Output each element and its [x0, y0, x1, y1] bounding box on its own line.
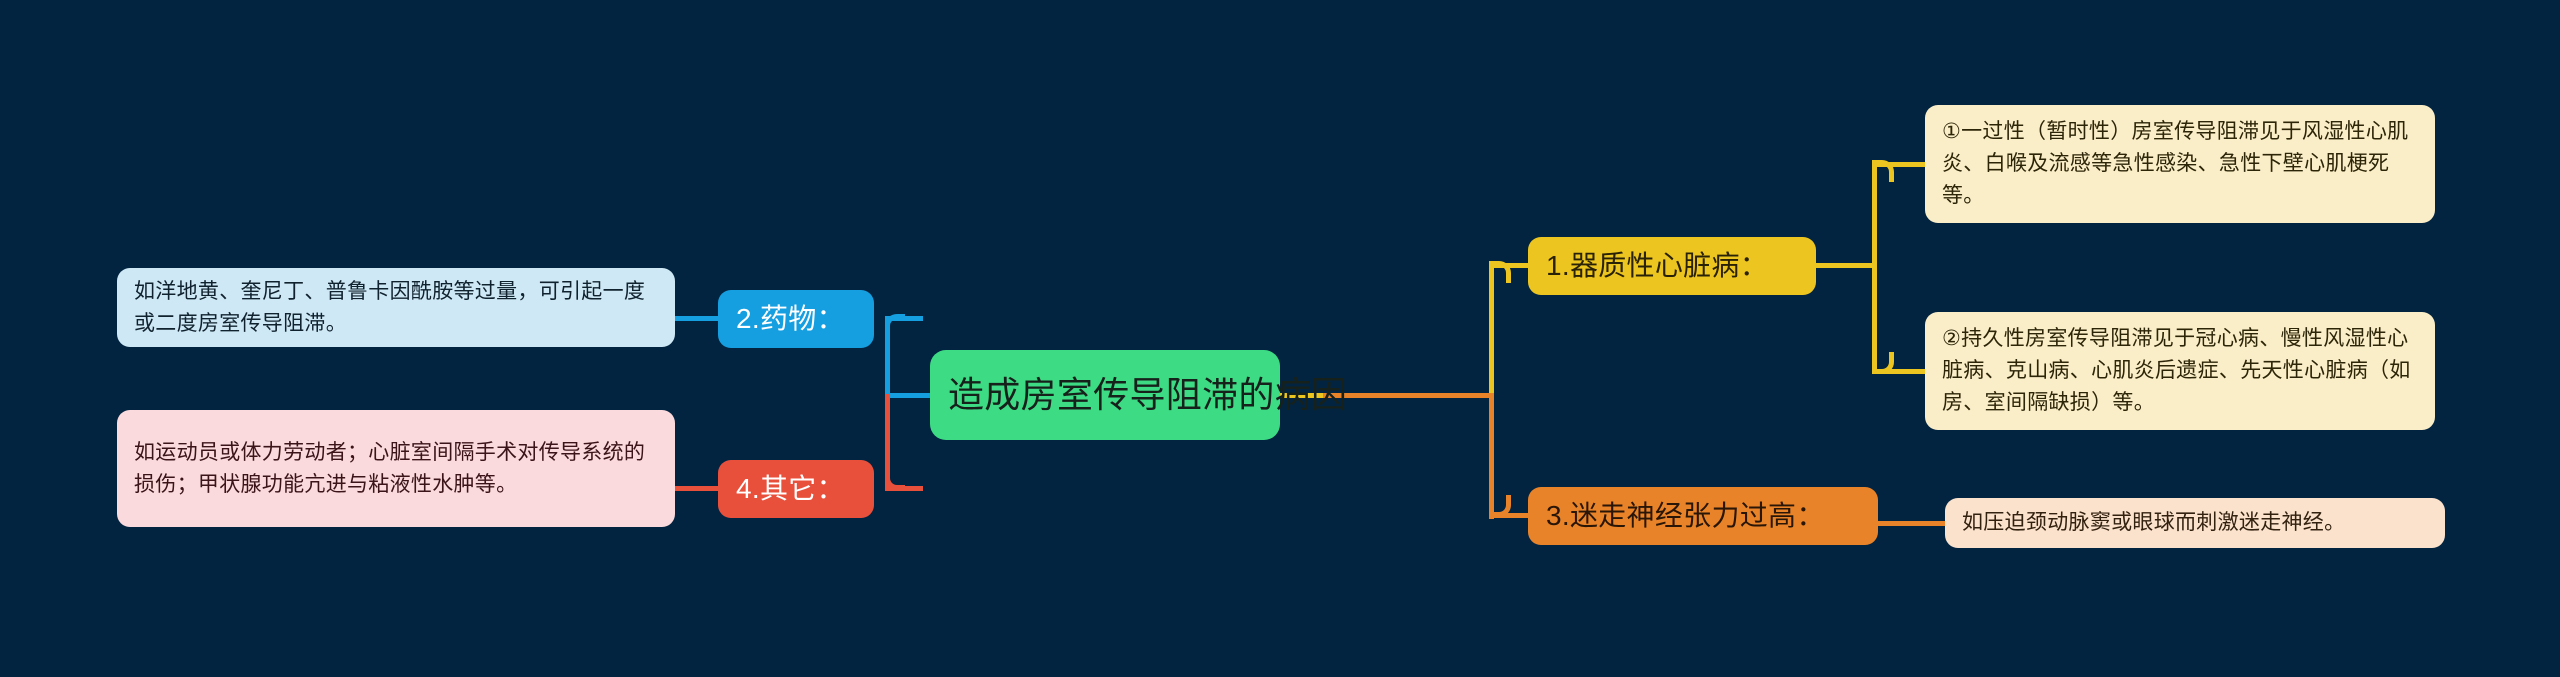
elbow-yellow — [1489, 261, 1511, 283]
connector-orange-leaf — [1874, 521, 1950, 526]
connector-root-right-orange — [1323, 393, 1493, 398]
elbow-yellow-child-1 — [1872, 160, 1894, 182]
mindmap-canvas: 造成房室传导阻滞的病因 2.药物： 4.其它： 1.器质性心脏病： 3.迷走神经… — [0, 0, 2560, 677]
connector-yellow-hub — [1812, 263, 1876, 268]
leaf-node-transient[interactable]: ①一过性（暂时性）房室传导阻滞见于风湿性心肌炎、白喉及流感等急性感染、急性下壁心… — [1925, 105, 2435, 223]
leaf-node-persistent[interactable]: ②持久性房室传导阻滞见于冠心病、慢性风湿性心脏病、克山病、心肌炎后遗症、先天性心… — [1925, 312, 2435, 430]
leaf-node-drug-detail[interactable]: 如洋地黄、奎尼丁、普鲁卡因酰胺等过量，可引起一度或二度房室传导阻滞。 — [117, 268, 675, 347]
branch-node-drugs-label: 2.药物： — [736, 298, 856, 341]
connector-red-leaf — [672, 486, 722, 491]
branch-node-organic-heart-disease-label: 1.器质性心脏病： — [1546, 245, 1798, 288]
branch-node-drugs[interactable]: 2.药物： — [718, 290, 874, 348]
leaf-node-persistent-label: ②持久性房室传导阻滞见于冠心病、慢性风湿性心脏病、克山病、心肌炎后遗症、先天性心… — [1942, 323, 2418, 419]
leaf-node-vagal-detail[interactable]: 如压迫颈动脉窦或眼球而刺激迷走神经。 — [1945, 498, 2445, 548]
leaf-node-other-detail[interactable]: 如运动员或体力劳动者；心脏室间隔手术对传导系统的损伤；甲状腺功能亢进与粘液性水肿… — [117, 410, 675, 527]
elbow-blue — [885, 314, 905, 334]
branch-node-organic-heart-disease[interactable]: 1.器质性心脏病： — [1528, 237, 1816, 295]
connector-spine-yellow-sub — [1872, 162, 1877, 374]
leaf-node-transient-label: ①一过性（暂时性）房室传导阻滞见于风湿性心肌炎、白喉及流感等急性感染、急性下壁心… — [1942, 116, 2418, 212]
branch-node-others-label: 4.其它： — [736, 468, 856, 511]
leaf-node-vagal-detail-label: 如压迫颈动脉窦或眼球而刺激迷走神经。 — [1962, 507, 2428, 539]
connector-blue-leaf — [672, 316, 722, 321]
branch-node-vagal-tone-label: 3.迷走神经张力过高： — [1546, 495, 1860, 538]
root-node[interactable]: 造成房室传导阻滞的病因 — [930, 350, 1280, 440]
leaf-node-drug-detail-label: 如洋地黄、奎尼丁、普鲁卡因酰胺等过量，可引起一度或二度房室传导阻滞。 — [134, 276, 658, 340]
leaf-node-other-detail-label: 如运动员或体力劳动者；心脏室间隔手术对传导系统的损伤；甲状腺功能亢进与粘液性水肿… — [134, 437, 658, 501]
branch-node-vagal-tone[interactable]: 3.迷走神经张力过高： — [1528, 487, 1878, 545]
root-node-label: 造成房室传导阻滞的病因 — [948, 368, 1262, 423]
branch-node-others[interactable]: 4.其它： — [718, 460, 874, 518]
